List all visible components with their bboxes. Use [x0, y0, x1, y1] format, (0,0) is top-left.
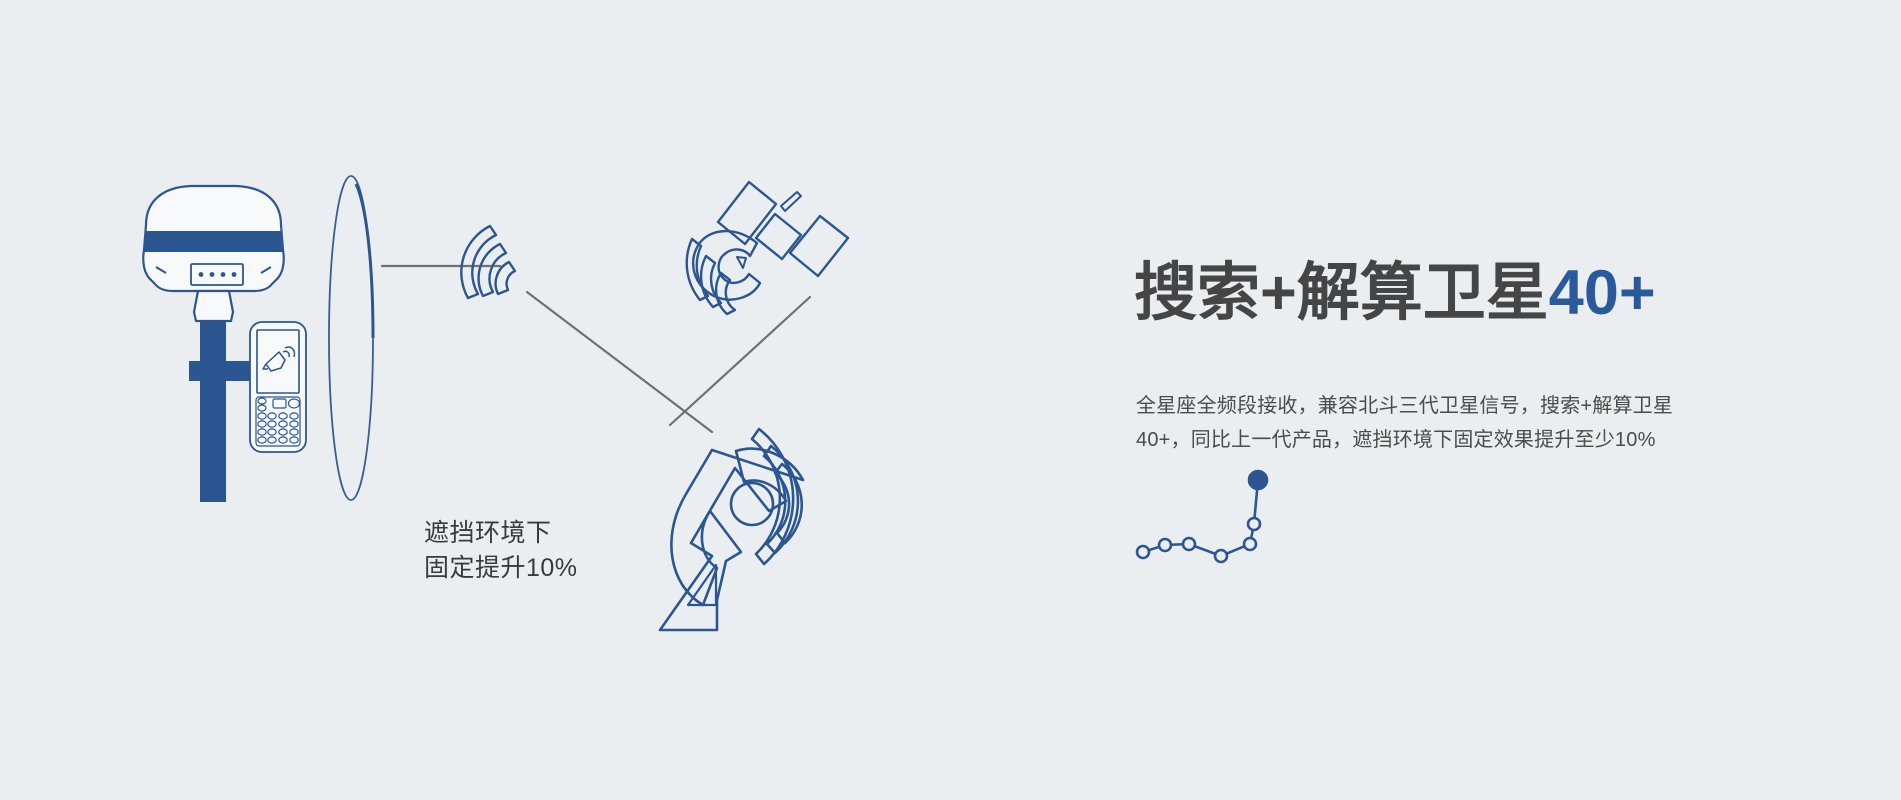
- chart-point: [1137, 546, 1149, 558]
- satellite-panel-left: [718, 182, 776, 244]
- body-line-1: 全星座全频段接收，兼容北斗三代卫星信号，搜索+解算卫星: [1136, 389, 1750, 423]
- banner-root: 遮挡环境下 固定提升10% 搜索+解算卫星40+ 全星座全频段接收，兼容北斗三代…: [0, 0, 1901, 800]
- led-dot: [210, 272, 215, 277]
- headline-main: 搜索+解算卫星: [1134, 258, 1549, 328]
- gnss-illustration: 遮挡环境下 固定提升10%: [0, 0, 1120, 800]
- signal-waves-left: [461, 226, 515, 298]
- orbit-ellipse-highlight: [356, 184, 373, 338]
- satellite: [687, 182, 848, 314]
- dot-line-chart: [1134, 466, 1274, 566]
- caption-line-1: 遮挡环境下: [424, 516, 578, 551]
- receiver-neck: [194, 291, 233, 321]
- led-dot: [221, 272, 226, 277]
- chart-point: [1248, 518, 1260, 530]
- headline-accent: 40+: [1549, 258, 1656, 328]
- illustration-caption: 遮挡环境下 固定提升10%: [424, 516, 578, 586]
- ground-station-dish: [660, 429, 803, 630]
- gnss-receiver: [143, 186, 284, 321]
- body-line-2: 40+，同比上一代产品，遮挡环境下固定效果提升至少10%: [1136, 423, 1750, 457]
- body-copy: 全星座全频段接收，兼容北斗三代卫星信号，搜索+解算卫星 40+，同比上一代产品，…: [1136, 389, 1750, 457]
- page-title: 搜索+解算卫星40+: [1134, 258, 1656, 328]
- connector-lines: [382, 266, 810, 432]
- chart-point: [1183, 538, 1195, 550]
- chart-point-highlight: [1249, 471, 1267, 489]
- led-dot: [232, 272, 237, 277]
- chart-point: [1159, 539, 1171, 551]
- satellite-feed-horn: [737, 257, 746, 268]
- satellite-mast: [781, 192, 801, 211]
- led-dot: [199, 272, 204, 277]
- chart-point: [1244, 538, 1256, 550]
- caption-line-2: 固定提升10%: [424, 551, 578, 586]
- satellite-panel-right: [790, 216, 848, 276]
- connector-satellite-to-dish: [670, 297, 810, 425]
- copy-block: 搜索+解算卫星40+ 全星座全频段接收，兼容北斗三代卫星信号，搜索+解算卫星 4…: [1134, 0, 1774, 800]
- controller-screen: [257, 330, 299, 393]
- handheld-controller: [250, 322, 306, 452]
- receiver-blue-band: [143, 231, 284, 252]
- chart-point: [1215, 550, 1227, 562]
